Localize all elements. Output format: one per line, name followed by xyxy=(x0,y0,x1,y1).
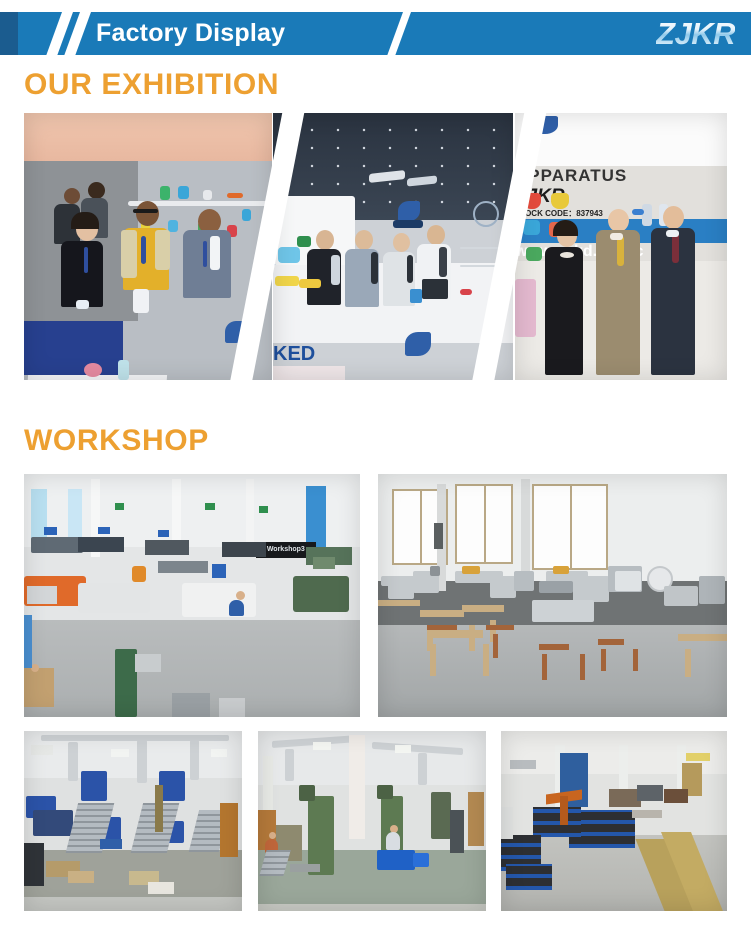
backdrop-brand: ZJKR xyxy=(515,186,727,208)
section-title-exhibition: OUR EXHIBITION xyxy=(24,68,279,102)
exhibition-photo-krkj-booth[interactable]: ROW3700 SKOV KED xyxy=(273,113,513,380)
header-banner: Factory Display ZJKR xyxy=(0,12,751,55)
section-title-workshop: WORKSHOP xyxy=(24,424,209,458)
backdrop-headline: APPARATUS xyxy=(515,166,727,186)
factory-display-page: Factory Display ZJKR OUR EXHIBITION KED®… xyxy=(0,0,751,925)
workshop-photo-assembly-testing-room[interactable] xyxy=(378,474,727,717)
banner-slash-icon xyxy=(385,12,413,55)
workshop-photo-extrusion-line[interactable] xyxy=(258,731,486,911)
exhibition-photo-zjkr-apparatus[interactable]: APPARATUS ZJKR STOCK CODE：837943 www.sxk… xyxy=(515,113,727,380)
banner-title: Factory Display xyxy=(96,12,285,55)
workshop-photo-injection-molding-hall[interactable]: Workshop3 xyxy=(24,474,360,717)
workshop-photo-mold-storage-racks[interactable] xyxy=(501,731,727,911)
workshop-photo-blue-machines-stairs[interactable] xyxy=(24,731,242,911)
exhibition-photo-strip: KED® 98.3967 xyxy=(24,113,727,380)
brand-logo: ZJKR xyxy=(656,14,735,54)
exhibition-photo-ked-booth[interactable]: KED® 98.3967 xyxy=(24,113,272,380)
banner-left-cap xyxy=(0,12,18,55)
